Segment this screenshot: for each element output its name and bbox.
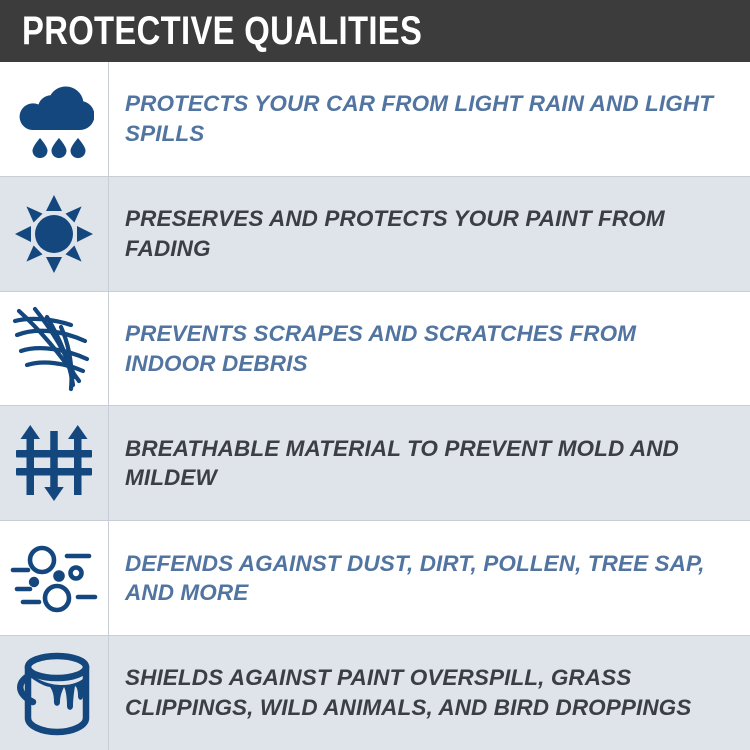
feature-list: PROTECTS YOUR CAR FROM LIGHT RAIN AND LI… [0,62,750,750]
list-item: SHIELDS AGAINST PAINT OVERSPILL, GRASS C… [0,636,750,750]
page-title: PROTECTIVE QUALITIES [22,11,422,51]
list-item: PREVENTS SCRAPES AND SCRATCHES FROM INDO… [0,292,750,407]
icon-cell [0,406,109,520]
list-item-label: SHIELDS AGAINST PAINT OVERSPILL, GRASS C… [125,663,732,722]
list-item: PRESERVES AND PROTECTS YOUR PAINT FROM F… [0,177,750,292]
list-item-label: PREVENTS SCRAPES AND SCRATCHES FROM INDO… [125,319,732,378]
paint-can-icon [12,650,96,736]
text-cell: DEFENDS AGAINST DUST, DIRT, POLLEN, TREE… [109,521,750,635]
icon-cell [0,62,109,176]
list-item-label: PRESERVES AND PROTECTS YOUR PAINT FROM F… [125,204,732,263]
icon-cell [0,292,109,406]
sun-icon [15,195,93,273]
list-item: PROTECTS YOUR CAR FROM LIGHT RAIN AND LI… [0,62,750,177]
dust-particles-icon [9,540,99,616]
header-bar: PROTECTIVE QUALITIES [0,0,750,62]
icon-cell [0,636,109,750]
list-item-label: DEFENDS AGAINST DUST, DIRT, POLLEN, TREE… [125,549,732,608]
icon-cell [0,521,109,635]
breathable-airflow-icon [14,423,94,503]
protective-qualities-infographic: PROTECTIVE QUALITIES PROTEC [0,0,750,750]
list-item-label: PROTECTS YOUR CAR FROM LIGHT RAIN AND LI… [125,89,732,148]
list-item: BREATHABLE MATERIAL TO PREVENT MOLD AND … [0,406,750,521]
scratch-mesh-icon [13,305,95,393]
text-cell: BREATHABLE MATERIAL TO PREVENT MOLD AND … [109,406,750,520]
list-item-label: BREATHABLE MATERIAL TO PREVENT MOLD AND … [125,434,732,493]
text-cell: PREVENTS SCRAPES AND SCRATCHES FROM INDO… [109,292,750,406]
text-cell: PRESERVES AND PROTECTS YOUR PAINT FROM F… [109,177,750,291]
list-item: DEFENDS AGAINST DUST, DIRT, POLLEN, TREE… [0,521,750,636]
icon-cell [0,177,109,291]
text-cell: SHIELDS AGAINST PAINT OVERSPILL, GRASS C… [109,636,750,750]
rain-cloud-icon [14,78,94,160]
text-cell: PROTECTS YOUR CAR FROM LIGHT RAIN AND LI… [109,62,750,176]
